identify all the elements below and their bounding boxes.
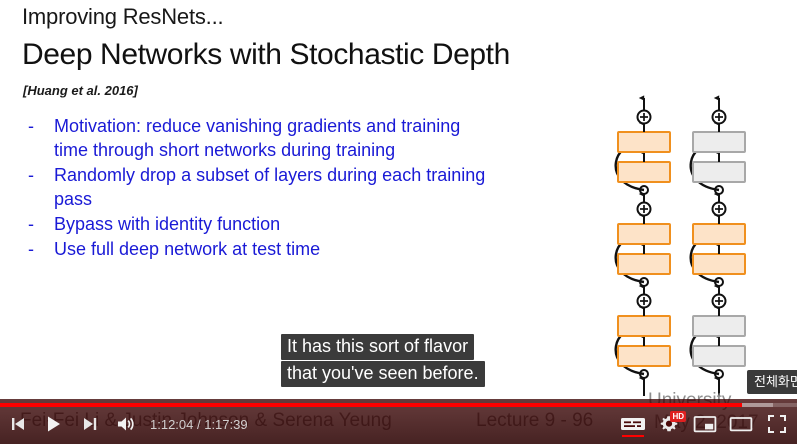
previous-button[interactable] (0, 409, 36, 439)
theater-mode-button[interactable] (723, 409, 759, 439)
theater-icon (729, 414, 753, 434)
player-controls-left: 1:12:04 / 1:17:39 (0, 409, 248, 439)
progress-bar-scrubber[interactable] (0, 403, 797, 407)
subtitle-overlay: It has this sort of flavor that you've s… (281, 334, 485, 387)
page-title: Deep Networks with Stochastic Depth (22, 38, 510, 72)
bullet-text: Randomly drop a subset of layers during … (54, 163, 492, 211)
list-item: - Randomly drop a subset of layers durin… (22, 163, 492, 211)
volume-button[interactable] (108, 409, 144, 439)
subtitle-line: that you've seen before. (281, 361, 485, 387)
progress-played (0, 403, 742, 407)
bullet-dash-icon: - (22, 237, 54, 261)
play-button[interactable] (36, 409, 72, 439)
bullet-text: Use full deep network at test time (54, 237, 492, 261)
fullscreen-tooltip: 전체화면 (747, 370, 797, 394)
stochastic-depth-resnet-diagram (600, 58, 797, 398)
quality-badge: HD (670, 411, 686, 422)
list-item: - Motivation: reduce vanishing gradients… (22, 114, 492, 162)
diagram-svg (600, 58, 797, 398)
bullet-list: - Motivation: reduce vanishing gradients… (22, 114, 492, 262)
slide-citation: [Huang et al. 2016] (23, 83, 138, 98)
fullscreen-button[interactable] (759, 409, 795, 439)
miniplayer-icon (693, 414, 717, 434)
next-icon (82, 416, 98, 432)
list-item: - Bypass with identity function (22, 212, 492, 236)
fullscreen-icon (767, 414, 787, 434)
player-controls-right: HD (615, 409, 795, 439)
diagram-column-right (691, 98, 745, 396)
video-player-controls: 1:12:04 / 1:17:39 HD (0, 399, 797, 444)
bullet-dash-icon: - (22, 114, 54, 138)
video-player-page: Improving ResNets... Deep Networks with … (0, 0, 797, 444)
bullet-dash-icon: - (22, 212, 54, 236)
bullet-text: Bypass with identity function (54, 212, 492, 236)
captions-icon (620, 415, 646, 433)
next-button[interactable] (72, 409, 108, 439)
miniplayer-button[interactable] (687, 409, 723, 439)
settings-button[interactable]: HD (651, 409, 687, 439)
time-display: 1:12:04 / 1:17:39 (150, 417, 248, 432)
slide-content: Improving ResNets... Deep Networks with … (0, 0, 797, 444)
slide-eyebrow: Improving ResNets... (22, 4, 223, 30)
diagram-column-left (616, 98, 670, 396)
captions-active-indicator (622, 435, 644, 437)
subtitle-line: It has this sort of flavor (281, 334, 474, 360)
volume-icon (116, 415, 136, 433)
bullet-dash-icon: - (22, 163, 54, 187)
bullet-text: Motivation: reduce vanishing gradients a… (54, 114, 492, 162)
captions-button[interactable] (615, 409, 651, 439)
play-icon (45, 415, 63, 433)
previous-icon (10, 416, 26, 432)
list-item: - Use full deep network at test time (22, 237, 492, 261)
